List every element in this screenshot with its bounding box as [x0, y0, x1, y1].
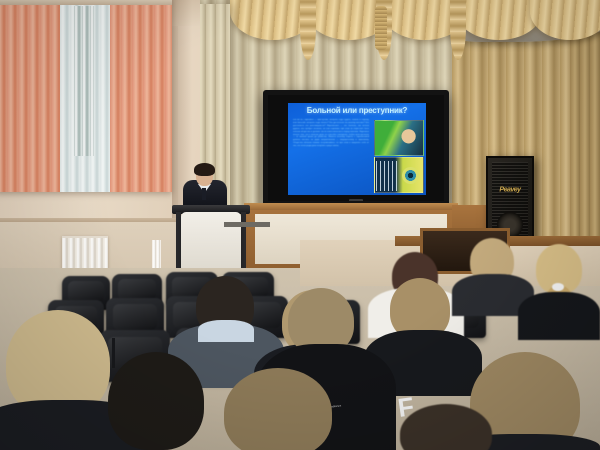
- blind-rail: [0, 0, 172, 5]
- slide-image-eye-syringes: [374, 157, 424, 193]
- tv-screen: Больной или преступник? Кто же он, нарко…: [268, 95, 444, 201]
- side-table: [224, 222, 270, 227]
- eye-graphic: [402, 167, 419, 184]
- tv-cabinet-ledge: [244, 203, 458, 210]
- television: Больной или преступник? Кто же он, нарко…: [263, 90, 449, 206]
- presenter-hair: [194, 163, 215, 176]
- curtain-gold-far: [570, 0, 600, 268]
- blind-panel-orange-left: [0, 0, 60, 192]
- presenter-tie: [202, 188, 206, 200]
- blind-panel-orange-right: [110, 0, 172, 192]
- slide-body-text: Кто же он, наркоман — преступник, которо…: [293, 119, 369, 191]
- window: [0, 0, 172, 192]
- presentation-slide: Больной или преступник? Кто же он, нарко…: [288, 103, 426, 195]
- window-glass: [74, 6, 94, 156]
- tv-brand-logo: [349, 199, 363, 201]
- vertical-blinds: [0, 0, 172, 192]
- speaker-brand-label: Peavey: [499, 187, 520, 194]
- slide-image-green-photo: [374, 120, 424, 156]
- student-head: [224, 368, 332, 450]
- student-shoulders: [518, 292, 600, 340]
- assembly-hall-photo: Больной или преступник? Кто же он, нарко…: [0, 0, 600, 450]
- curtain-tassel: [375, 6, 387, 50]
- student-shirt-collar: [198, 320, 254, 342]
- chair-leg: [112, 338, 115, 368]
- syringes-graphic: [376, 161, 398, 191]
- slide-title: Больной или преступник?: [294, 106, 420, 115]
- hair-tie: [552, 283, 564, 291]
- student-head: [108, 352, 204, 450]
